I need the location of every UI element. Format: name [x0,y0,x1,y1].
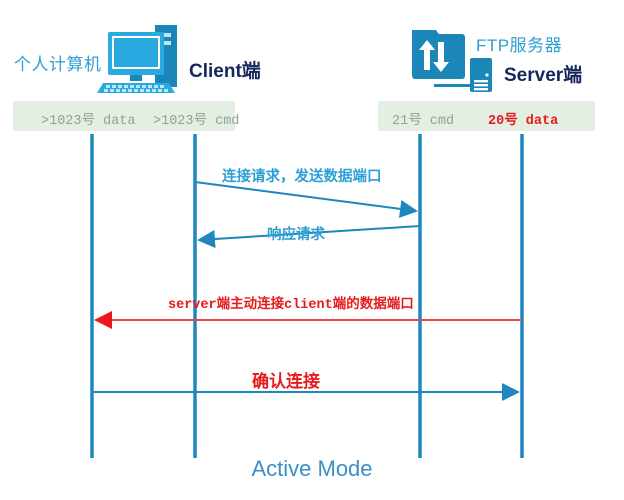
server-cmd-port-label: 21号 cmd [392,108,454,129]
server-role-label: Server端 [504,60,582,87]
diagram-title: Active Mode [0,456,624,482]
client-role-label: Client端 [189,56,261,83]
server-port-bar: 21号 cmd 20号 data [378,101,595,131]
desktop-computer-icon [97,25,177,93]
client-data-port-label: >1023号 data [41,108,136,129]
ftp-active-mode-diagram: 个人计算机 Client端 FTP服务器 Server端 >1023号 data… [0,0,624,500]
arrow-connect-request [195,182,416,211]
message-label-connect-request: 连接请求，发送数据端口 [222,165,382,186]
client-port-bar: >1023号 data >1023号 cmd [13,101,235,131]
server-caption: FTP服务器 [476,31,562,56]
client-cmd-port-label: >1023号 cmd [153,108,239,129]
message-label-response: 响应请求 [267,223,325,244]
server-data-port-label: 20号 data [488,108,558,129]
message-label-server-connects-client-data-port: server端主动连接client端的数据端口 [168,292,414,313]
client-caption: 个人计算机 [14,50,102,75]
message-label-confirm-connection: 确认连接 [252,367,320,392]
